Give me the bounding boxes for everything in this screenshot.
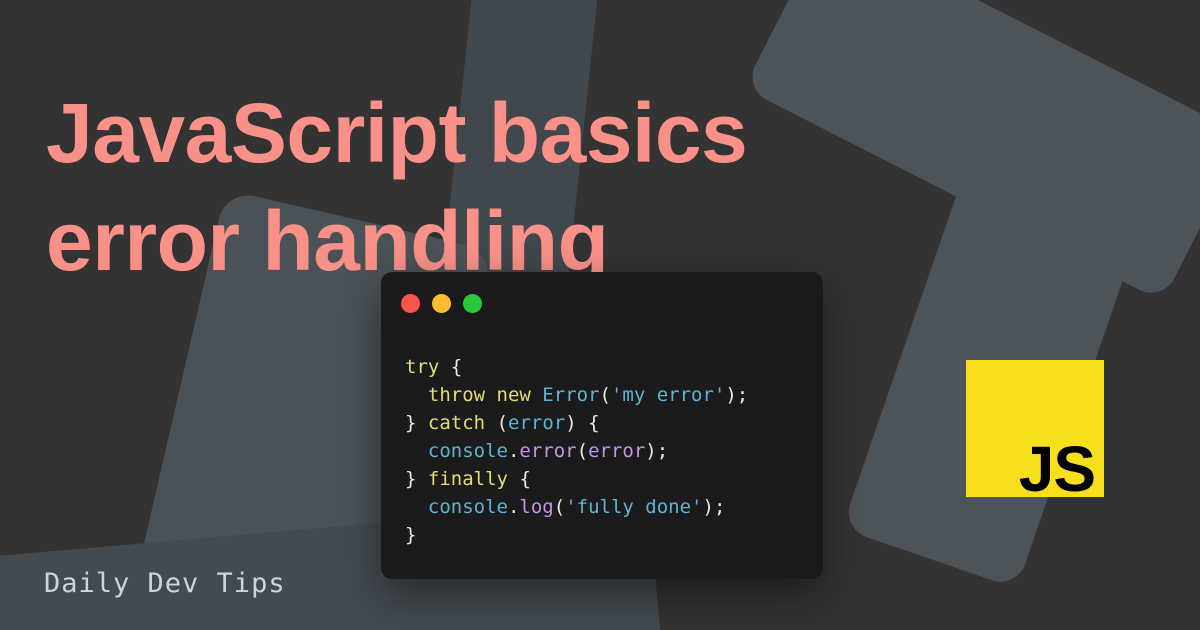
code-line: } (405, 524, 416, 546)
code-token: ; (737, 384, 748, 406)
close-icon[interactable] (401, 294, 420, 313)
code-token: ) (645, 440, 656, 462)
code-token: ( (577, 440, 588, 462)
social-card: JavaScript basics error handling try { t… (0, 0, 1200, 630)
code-token (508, 468, 519, 490)
code-token (416, 468, 427, 490)
code-token: } (405, 468, 416, 490)
code-token: 'fully done' (565, 496, 702, 518)
code-token (577, 412, 588, 434)
code-line: } finally { (405, 468, 531, 490)
code-line: throw new Error('my error'); (405, 384, 748, 406)
minimize-icon[interactable] (432, 294, 451, 313)
code-token: error (588, 440, 645, 462)
code-token: throw new (428, 384, 531, 406)
code-token: ; (657, 440, 668, 462)
code-token: ( (554, 496, 565, 518)
code-token: log (519, 496, 553, 518)
code-token: 'my error' (611, 384, 725, 406)
code-token: console (428, 496, 508, 518)
code-block: try { throw new Error('my error'); } cat… (381, 353, 823, 549)
maximize-icon[interactable] (463, 294, 482, 313)
page-title: JavaScript basics error handling (46, 80, 946, 295)
code-token (405, 440, 428, 462)
code-token (405, 384, 428, 406)
code-token: Error (542, 384, 599, 406)
javascript-logo-label: JS (1019, 437, 1095, 501)
code-token: error (519, 440, 576, 462)
code-token: finally (428, 468, 508, 490)
code-token: ( (497, 412, 508, 434)
code-token (439, 356, 450, 378)
code-token (405, 496, 428, 518)
code-line: } catch (error) { (405, 412, 600, 434)
code-window: try { throw new Error('my error'); } cat… (381, 272, 823, 579)
code-token: } (405, 412, 416, 434)
code-token: { (451, 356, 462, 378)
code-token: ) (565, 412, 576, 434)
code-token: . (508, 496, 519, 518)
code-token: catch (428, 412, 485, 434)
code-token: ( (600, 384, 611, 406)
code-line: try { (405, 356, 462, 378)
code-token (531, 384, 542, 406)
code-token (485, 412, 496, 434)
code-token: ) (702, 496, 713, 518)
code-token: console (428, 440, 508, 462)
code-token: ) (725, 384, 736, 406)
code-token: { (588, 412, 599, 434)
code-token: . (508, 440, 519, 462)
code-token (416, 412, 427, 434)
code-window-titlebar (381, 272, 823, 334)
javascript-logo: JS (966, 360, 1104, 497)
code-token: error (508, 412, 565, 434)
code-token: try (405, 356, 439, 378)
code-line: console.error(error); (405, 440, 668, 462)
code-line: console.log('fully done'); (405, 496, 725, 518)
brand-footer: Daily Dev Tips (44, 568, 286, 599)
code-token: { (519, 468, 530, 490)
code-token: } (405, 524, 416, 546)
code-token: ; (714, 496, 725, 518)
